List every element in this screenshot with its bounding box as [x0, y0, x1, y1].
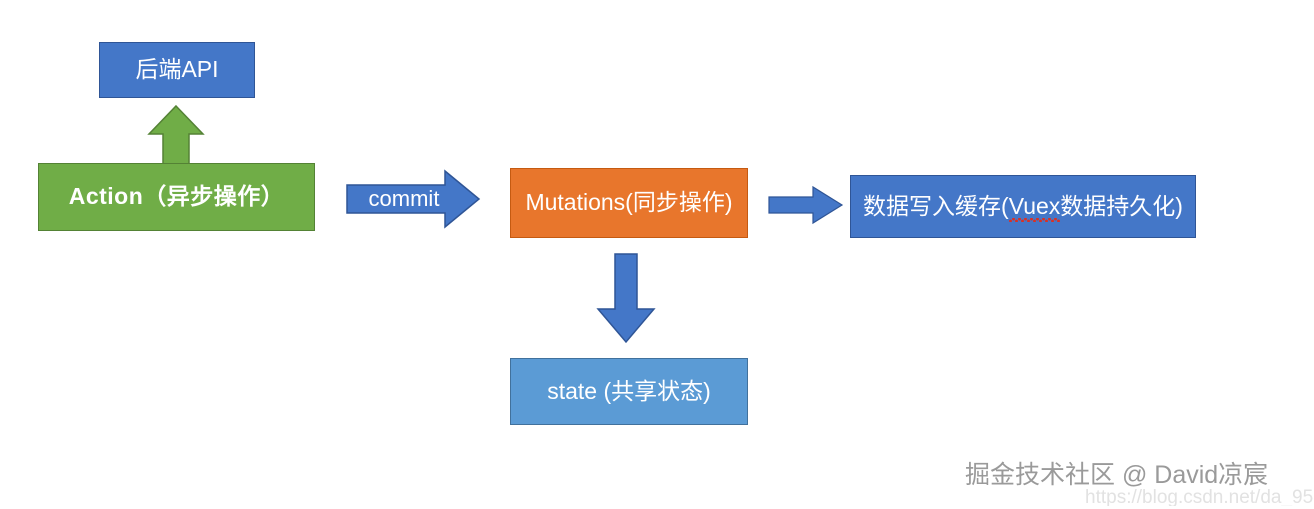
diagram-canvas: 后端API Action（异步操作） commit Mutations(同步操作… — [0, 0, 1314, 509]
arrow-mutations-to-state-icon — [595, 252, 657, 344]
arrow-commit-icon: commit — [345, 168, 481, 230]
node-mutations-label: Mutations(同步操作) — [525, 190, 732, 215]
node-data-cache-label-prefix: 数据写入缓存( — [863, 193, 1009, 219]
node-state-label: state (共享状态) — [547, 379, 711, 404]
node-backend-api-label: 后端API — [135, 57, 218, 82]
watermark-text: 掘金技术社区 @ David凉宸 — [965, 455, 1305, 491]
arrow-action-to-backend-api-icon — [146, 104, 206, 166]
node-data-cache-label-suffix: 数据持久化) — [1060, 193, 1183, 219]
node-state: state (共享状态) — [510, 358, 748, 425]
arrow-mutations-to-cache-icon — [768, 185, 844, 225]
node-data-cache-label: 数据写入缓存(Vuex数据持久化) — [863, 194, 1183, 219]
watermark-url: https://blog.csdn.net/da_958 — [1085, 487, 1314, 506]
misspelled-word-vuex: Vuex — [1009, 194, 1061, 219]
node-action-label: Action（异步操作） — [69, 184, 285, 209]
node-backend-api: 后端API — [99, 42, 255, 98]
node-data-cache: 数据写入缓存(Vuex数据持久化) — [850, 175, 1196, 238]
node-action: Action（异步操作） — [38, 163, 315, 231]
node-mutations: Mutations(同步操作) — [510, 168, 748, 238]
